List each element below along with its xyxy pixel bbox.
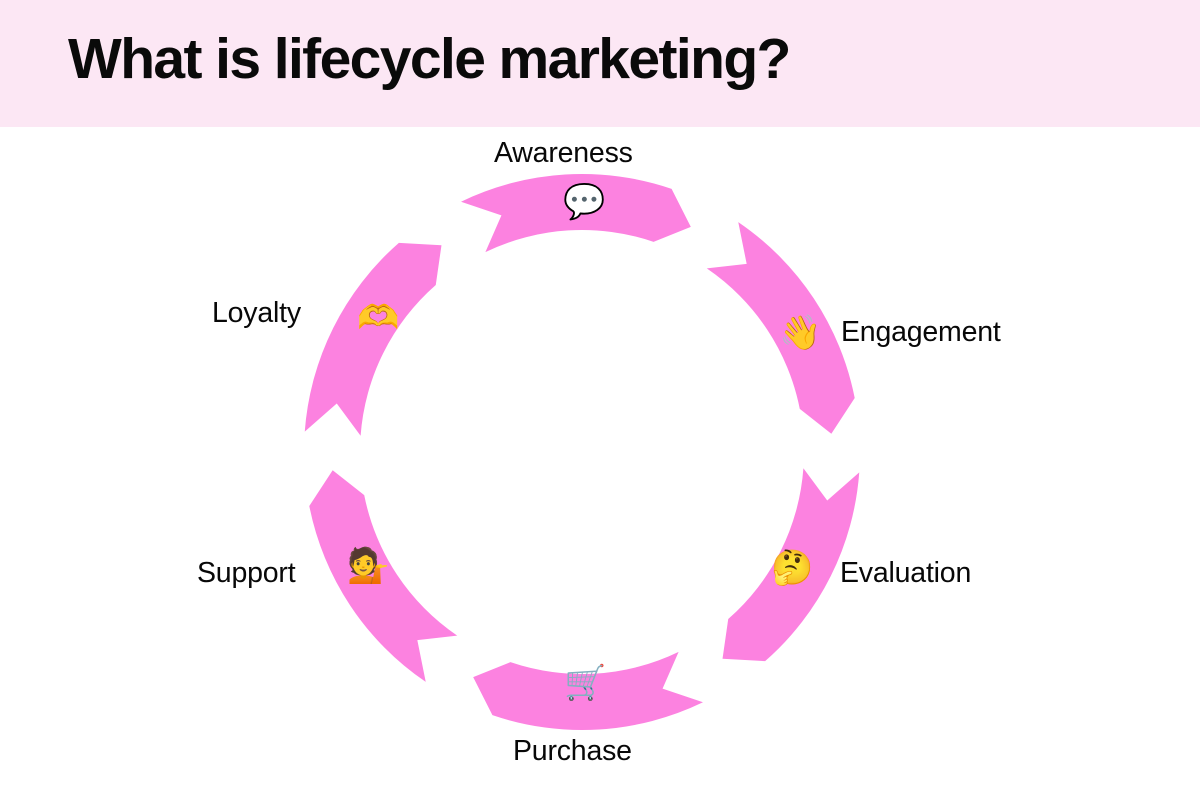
waving-hand-emoji: 👋	[779, 316, 821, 350]
heart-hands-emoji: 🫶	[357, 301, 399, 335]
stage-label-support: Support	[197, 557, 295, 590]
thinking-face-emoji: 🤔	[771, 551, 813, 585]
stage-label-purchase: Purchase	[513, 735, 632, 768]
arrow-segment-loyalty[interactable]	[305, 243, 442, 436]
speech-balloon-emoji: 💬	[563, 185, 605, 219]
information-desk-person-emoji: 💁	[347, 549, 389, 583]
stage-label-engagement: Engagement	[841, 316, 1001, 349]
page-header-banner: What is lifecycle marketing?	[0, 0, 1200, 127]
arrow-segment-group	[305, 174, 860, 730]
stage-label-awareness: Awareness	[494, 137, 633, 170]
shopping-cart-emoji: 🛒	[564, 666, 606, 700]
stage-label-loyalty: Loyalty	[212, 297, 301, 330]
stage-label-evaluation: Evaluation	[840, 557, 971, 590]
page-title: What is lifecycle marketing?	[68, 28, 790, 92]
lifecycle-cycle-diagram: Awareness💬Engagement👋Evaluation🤔Purchase…	[0, 127, 1200, 800]
